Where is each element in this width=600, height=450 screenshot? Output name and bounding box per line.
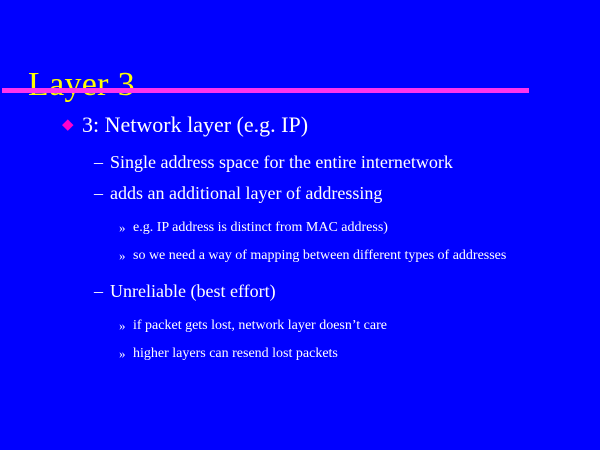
outline-item-level2: – Unreliable (best effort) [0, 277, 600, 306]
guillemet-bullet-icon: » [119, 242, 133, 269]
outline-item-text: higher layers can resend lost packets [133, 340, 338, 367]
outline-item-text: e.g. IP address is distinct from MAC add… [133, 214, 388, 241]
slide-body-outline: ◆ 3: Network layer (e.g. IP) – Single ad… [0, 110, 600, 368]
outline-item-level2: – adds an additional layer of addressing [0, 179, 600, 208]
outline-item-text: Unreliable (best effort) [110, 277, 276, 306]
outline-item-text: so we need a way of mapping between diff… [133, 242, 506, 269]
outline-item-level3: » if packet gets lost, network layer doe… [0, 312, 600, 339]
dash-bullet-icon: – [94, 179, 110, 208]
dash-bullet-icon: – [94, 277, 110, 306]
guillemet-bullet-icon: » [119, 312, 133, 339]
outline-item-level3: » higher layers can resend lost packets [0, 340, 600, 367]
page-title: Layer 3 [28, 65, 135, 105]
diamond-bullet-icon: ◆ [62, 110, 82, 140]
outline-item-level2: – Single address space for the entire in… [0, 148, 600, 177]
guillemet-bullet-icon: » [119, 214, 133, 241]
outline-item-text: Single address space for the entire inte… [110, 148, 453, 177]
outline-item-level3: » so we need a way of mapping between di… [0, 242, 600, 269]
outline-item-text: 3: Network layer (e.g. IP) [82, 110, 308, 140]
outline-item-text: adds an additional layer of addressing [110, 179, 382, 208]
guillemet-bullet-icon: » [119, 340, 133, 367]
outline-item-level3: » e.g. IP address is distinct from MAC a… [0, 214, 600, 241]
title-divider-rule [2, 88, 529, 93]
outline-item-level1: ◆ 3: Network layer (e.g. IP) [0, 110, 600, 140]
spacer [0, 270, 600, 277]
presentation-slide: Layer 3 ◆ 3: Network layer (e.g. IP) – S… [0, 0, 600, 450]
dash-bullet-icon: – [94, 148, 110, 177]
outline-item-text: if packet gets lost, network layer doesn… [133, 312, 387, 339]
